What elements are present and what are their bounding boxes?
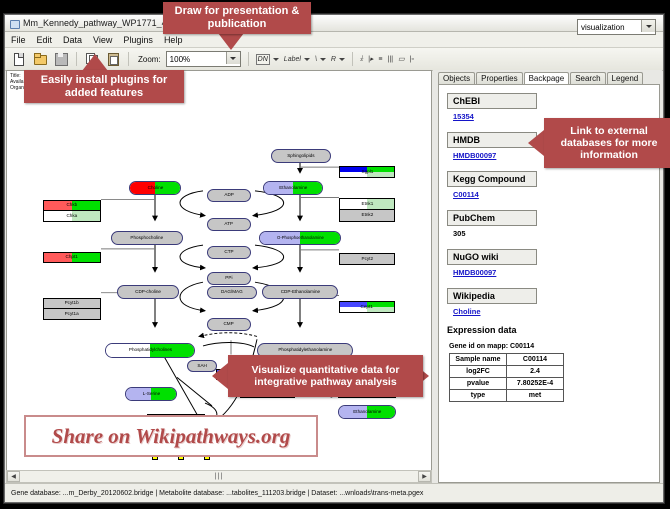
node-cdp-ethanolamine[interactable]: CDP-Ethanolamine	[262, 285, 338, 299]
node-ctp[interactable]: CTP	[207, 246, 251, 259]
chevron-down-icon[interactable]	[226, 52, 240, 64]
toolbar-separator-1	[76, 52, 77, 66]
callout-visualize-data: Visualize quantitative data for integrat…	[228, 355, 423, 397]
gene-id-on-mapp: Gene id on mapp: C00114	[449, 343, 659, 350]
db-header-kegg-compound: Kegg Compound	[447, 171, 537, 187]
expression-data-heading: Expression data	[447, 325, 659, 335]
node-label: L-Serine	[142, 392, 159, 397]
canvas-horizontal-scrollbar[interactable]: ◀ ||| ▶	[6, 470, 432, 483]
tab-backpage[interactable]: Backpage	[524, 72, 570, 84]
label-tool[interactable]: Label	[284, 52, 310, 66]
node-label: CDP-choline	[135, 290, 161, 295]
table-row: pvalue 7.80252E-4	[450, 378, 564, 390]
ungroup-icon: |▫	[410, 56, 414, 63]
node-label: Sphingolipids	[287, 154, 314, 159]
status-text: Gene database: ...m_Derby_20120602.bridg…	[11, 490, 423, 497]
label-tool-text: Label	[284, 56, 301, 63]
callout-plugins-arrow-icon	[82, 54, 108, 71]
visualization-value: visualization	[581, 23, 625, 32]
node-l-serine-left[interactable]: L-Serine	[125, 387, 177, 401]
expression-table: Sample name C00114 log2FC 2.4 pvalue 7.8…	[449, 353, 564, 402]
node-label: Sgpl1	[361, 170, 373, 175]
group-icon: ▭	[398, 55, 405, 63]
node-label: Etnk2	[361, 213, 373, 218]
sidebar-tabs: Objects Properties Backpage Search Legen…	[433, 70, 662, 84]
tab-search[interactable]: Search	[570, 72, 605, 84]
chevron-down-icon[interactable]	[339, 58, 345, 61]
chevron-down-icon[interactable]	[273, 58, 279, 61]
menu-item-edit[interactable]: Edit	[36, 35, 54, 45]
save-file-icon[interactable]	[53, 51, 69, 67]
menu-item-data[interactable]: Data	[62, 35, 83, 45]
node-pcyt1a[interactable]: Pcyt1a	[43, 309, 101, 320]
db-link-wikipedia[interactable]: Choline	[453, 307, 659, 316]
node-label: Pcyt1b	[65, 301, 79, 306]
db-link-nugo-wiki[interactable]: HMDB00097	[453, 268, 659, 277]
db-link-kegg-compound[interactable]: C00114	[453, 190, 659, 199]
node-label: PPi	[225, 276, 232, 281]
table-row: Sample name C00114	[450, 354, 564, 366]
title-bar: Mm_Kennedy_pathway_WP1771_45176.gpml	[5, 15, 663, 32]
node-phosphocholine[interactable]: Phosphocholine	[111, 231, 183, 245]
expr-value-pvalue: 7.80252E-4	[507, 378, 564, 390]
visualization-combo[interactable]: visualization	[577, 19, 656, 35]
status-bar: Gene database: ...m_Derby_20120602.bridg…	[5, 483, 663, 502]
node-chkb[interactable]: Chkb	[43, 200, 101, 211]
callout-install-plugins: Easily install plugins for added feature…	[24, 70, 184, 103]
scroll-right-icon[interactable]: ▶	[418, 471, 431, 482]
node-label: Etnk1	[361, 202, 373, 207]
node-cept1[interactable]: Cept1	[339, 301, 395, 313]
db-header-wikipedia: Wikipedia	[447, 288, 537, 304]
node-label: Pcyt1a	[65, 312, 79, 317]
align-left-icon: |▸	[368, 55, 373, 63]
toolbar-separator-4	[352, 52, 353, 66]
receptor-tool[interactable]: R	[331, 52, 345, 66]
db-value-pubchem: 305	[453, 229, 659, 238]
node-sphingolipids[interactable]: Sphingolipids	[271, 149, 331, 163]
expr-key-log2fc: log2FC	[450, 366, 507, 378]
datanode-icon: DN	[256, 54, 270, 65]
chevron-down-icon[interactable]	[304, 58, 310, 61]
node-cdp-choline[interactable]: CDP-choline	[117, 285, 179, 299]
zoom-label: Zoom:	[138, 55, 161, 64]
node-ethanolamine-2[interactable]: Ethanolamine	[338, 405, 396, 419]
node-etnk2[interactable]: Etnk2	[339, 210, 395, 222]
node-label: SAH	[197, 364, 206, 369]
node-label: O-Phosphoethanolamine	[277, 236, 324, 240]
node-sgpl1[interactable]: Sgpl1	[339, 166, 395, 178]
node-label: Phosphatidylcholines	[128, 348, 171, 353]
scroll-left-icon[interactable]: ◀	[7, 471, 20, 482]
node-label: CTP	[224, 250, 233, 255]
db-header-chebi: ChEBI	[447, 93, 537, 109]
stack-button[interactable]: |||	[388, 52, 393, 66]
zoom-value: 100%	[170, 55, 190, 64]
distribute-button[interactable]: ≡	[378, 52, 382, 66]
node-adp[interactable]: ADP	[207, 189, 251, 202]
callout-links-arrow-icon	[528, 130, 544, 156]
db-header-hmdb: HMDB	[447, 132, 537, 148]
node-etnk1[interactable]: Etnk1	[339, 198, 395, 210]
node-label: ATP	[225, 222, 234, 227]
callout-external-links: Link to external databases for more info…	[544, 118, 670, 168]
zoom-combo[interactable]: 100%	[166, 51, 241, 67]
line-tool[interactable]: \	[315, 52, 326, 66]
align-left-button[interactable]: |▸	[368, 52, 373, 66]
node-label: ADP	[224, 193, 233, 198]
toolbar-separator-3	[248, 52, 249, 66]
group-button[interactable]: ▭	[398, 52, 405, 66]
node-label: Ethanolamine	[279, 186, 307, 191]
toolbar-separator-2	[128, 52, 129, 66]
align-top-button[interactable]: ⤓	[360, 52, 363, 66]
node-ppi[interactable]: PPi	[207, 272, 251, 285]
db-header-nugo-wiki: NuGO wiki	[447, 249, 537, 265]
menu-item-help[interactable]: Help	[163, 35, 184, 45]
pathvisio-icon	[9, 18, 19, 28]
chevron-down-icon[interactable]	[320, 58, 326, 61]
node-label: CDP-Ethanolamine	[280, 290, 319, 295]
callout-draw-arrow-icon	[218, 33, 244, 50]
line-icon: \	[315, 56, 317, 63]
callout-share-wikipathways: Share on Wikipathways.org	[24, 415, 318, 457]
node-label: Chka	[67, 214, 78, 219]
callout-visualize-arrow-left-icon	[212, 363, 228, 389]
node-dag-mag[interactable]: DAG/MAG	[207, 286, 257, 299]
node-label: Chkb	[67, 203, 78, 208]
expr-value-type: met	[507, 390, 564, 402]
node-label: Cept1	[361, 305, 373, 310]
stack-icon: |||	[388, 56, 393, 63]
node-choline-top[interactable]: Choline	[129, 181, 181, 195]
tab-properties[interactable]: Properties	[476, 72, 522, 84]
distribute-icon: ≡	[378, 56, 382, 63]
table-row: log2FC 2.4	[450, 366, 564, 378]
expr-key-sample-name: Sample name	[450, 354, 507, 366]
node-label: Phosphocholine	[131, 236, 164, 241]
node-label: DAG/MAG	[221, 290, 243, 295]
share-text: Share on Wikipathways.org	[52, 424, 291, 449]
expr-value-sample-name: C00114	[507, 354, 564, 366]
node-label: Chpt1	[66, 255, 78, 260]
datanode-tool[interactable]: DN	[256, 52, 279, 66]
tab-legend[interactable]: Legend	[607, 72, 644, 84]
chevron-down-icon[interactable]	[641, 20, 655, 32]
node-label: Phosphatidylethanolamine	[278, 348, 332, 353]
table-row: type met	[450, 390, 564, 402]
tab-objects[interactable]: Objects	[438, 72, 475, 84]
receptor-icon: R	[331, 56, 336, 63]
node-label: Ethanolamine	[353, 410, 381, 415]
callout-draw-for-publication: Draw for presentation & publication	[163, 2, 311, 34]
node-atp[interactable]: ATP	[207, 218, 251, 231]
expr-key-type: type	[450, 390, 507, 402]
expr-key-pvalue: pvalue	[450, 378, 507, 390]
node-ethanolamine-1[interactable]: Ethanolamine	[263, 181, 323, 195]
node-label: Pcyt2	[361, 257, 373, 262]
menu-item-file[interactable]: File	[10, 35, 27, 45]
node-chpt1[interactable]: Chpt1	[43, 252, 101, 263]
node-label: CMP	[224, 322, 234, 327]
ungroup-button[interactable]: |▫	[410, 52, 414, 66]
node-pcyt1b[interactable]: Pcyt1b	[43, 298, 101, 309]
menu-item-view[interactable]: View	[92, 35, 113, 45]
expr-value-log2fc: 2.4	[507, 366, 564, 378]
scroll-thumb[interactable]: |||	[215, 473, 223, 480]
node-cmp[interactable]: CMP	[207, 318, 251, 331]
node-chka[interactable]: Chka	[43, 211, 101, 222]
menu-item-plugins[interactable]: Plugins	[122, 35, 154, 45]
node-pcyt2[interactable]: Pcyt2	[339, 253, 395, 265]
node-label: Choline	[147, 186, 163, 191]
open-file-icon[interactable]	[32, 51, 48, 67]
screenshot-root: Mm_Kennedy_pathway_WP1771_45176.gpml Fil…	[0, 0, 670, 509]
db-header-pubchem: PubChem	[447, 210, 537, 226]
new-file-icon[interactable]	[11, 51, 27, 67]
menu-bar: File Edit Data View Plugins Help	[5, 32, 663, 48]
node-phosphatidylcholines[interactable]: Phosphatidylcholines	[105, 343, 195, 358]
node-o-phosphoethanolamine[interactable]: O-Phosphoethanolamine	[259, 231, 341, 245]
align-top-icon: ⤓	[360, 55, 363, 63]
